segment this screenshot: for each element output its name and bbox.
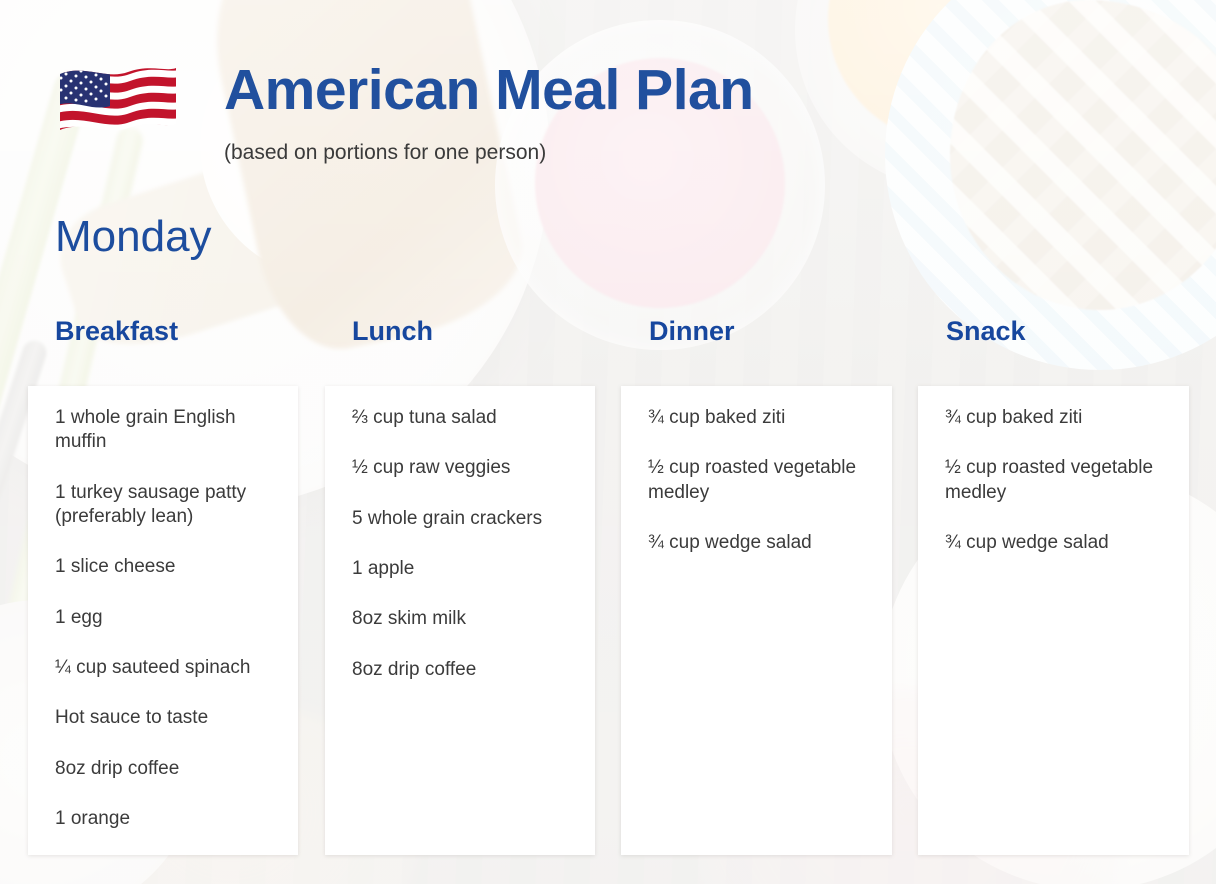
meal-heading-breakfast: Breakfast bbox=[55, 316, 178, 347]
meal-item: 1 egg bbox=[55, 606, 272, 630]
meal-card-dinner: ¾ cup baked ziti½ cup roasted vegetable … bbox=[621, 386, 892, 855]
meal-item: ¾ cup baked ziti bbox=[945, 406, 1163, 430]
meal-item: ¾ cup wedge salad bbox=[945, 531, 1163, 555]
meal-heading-snack: Snack bbox=[946, 316, 1026, 347]
day-heading: Monday bbox=[55, 212, 212, 262]
meal-heading-dinner: Dinner bbox=[649, 316, 735, 347]
meal-item-list: ¾ cup baked ziti½ cup roasted vegetable … bbox=[945, 406, 1163, 555]
meal-item: Hot sauce to taste bbox=[55, 706, 272, 730]
meal-item: 1 slice cheese bbox=[55, 555, 272, 579]
meal-item-list: ⅔ cup tuna salad½ cup raw veggies5 whole… bbox=[352, 406, 569, 682]
meal-card-breakfast: 1 whole grain English muffin1 turkey sau… bbox=[28, 386, 298, 855]
meal-item: 1 turkey sausage patty (preferably lean) bbox=[55, 481, 272, 530]
meal-card-snack: ¾ cup baked ziti½ cup roasted vegetable … bbox=[918, 386, 1189, 855]
meal-item: ½ cup roasted vegetable medley bbox=[648, 456, 866, 505]
meal-item: ¼ cup sauteed spinach bbox=[55, 656, 272, 680]
meal-item: ¾ cup wedge salad bbox=[648, 531, 866, 555]
meal-item: 8oz drip coffee bbox=[352, 658, 569, 682]
meal-item: 1 apple bbox=[352, 557, 569, 581]
meal-item: 5 whole grain crackers bbox=[352, 507, 569, 531]
page-subtitle: (based on portions for one person) bbox=[224, 141, 546, 165]
page-title: American Meal Plan bbox=[224, 57, 754, 123]
meal-plan-poster: American Meal Plan (based on portions fo… bbox=[0, 0, 1216, 884]
meal-item-list: 1 whole grain English muffin1 turkey sau… bbox=[55, 406, 272, 831]
meal-item: ¾ cup baked ziti bbox=[648, 406, 866, 430]
meal-item: 8oz drip coffee bbox=[55, 757, 272, 781]
meal-card-lunch: ⅔ cup tuna salad½ cup raw veggies5 whole… bbox=[325, 386, 595, 855]
meal-item: 8oz skim milk bbox=[352, 607, 569, 631]
meal-heading-lunch: Lunch bbox=[352, 316, 433, 347]
us-flag-icon bbox=[54, 60, 182, 152]
meal-item: 1 whole grain English muffin bbox=[55, 406, 272, 455]
meal-item: ½ cup raw veggies bbox=[352, 456, 569, 480]
meal-item: ½ cup roasted vegetable medley bbox=[945, 456, 1163, 505]
meal-item-list: ¾ cup baked ziti½ cup roasted vegetable … bbox=[648, 406, 866, 555]
meal-item: 1 orange bbox=[55, 807, 272, 831]
meal-item: ⅔ cup tuna salad bbox=[352, 406, 569, 430]
